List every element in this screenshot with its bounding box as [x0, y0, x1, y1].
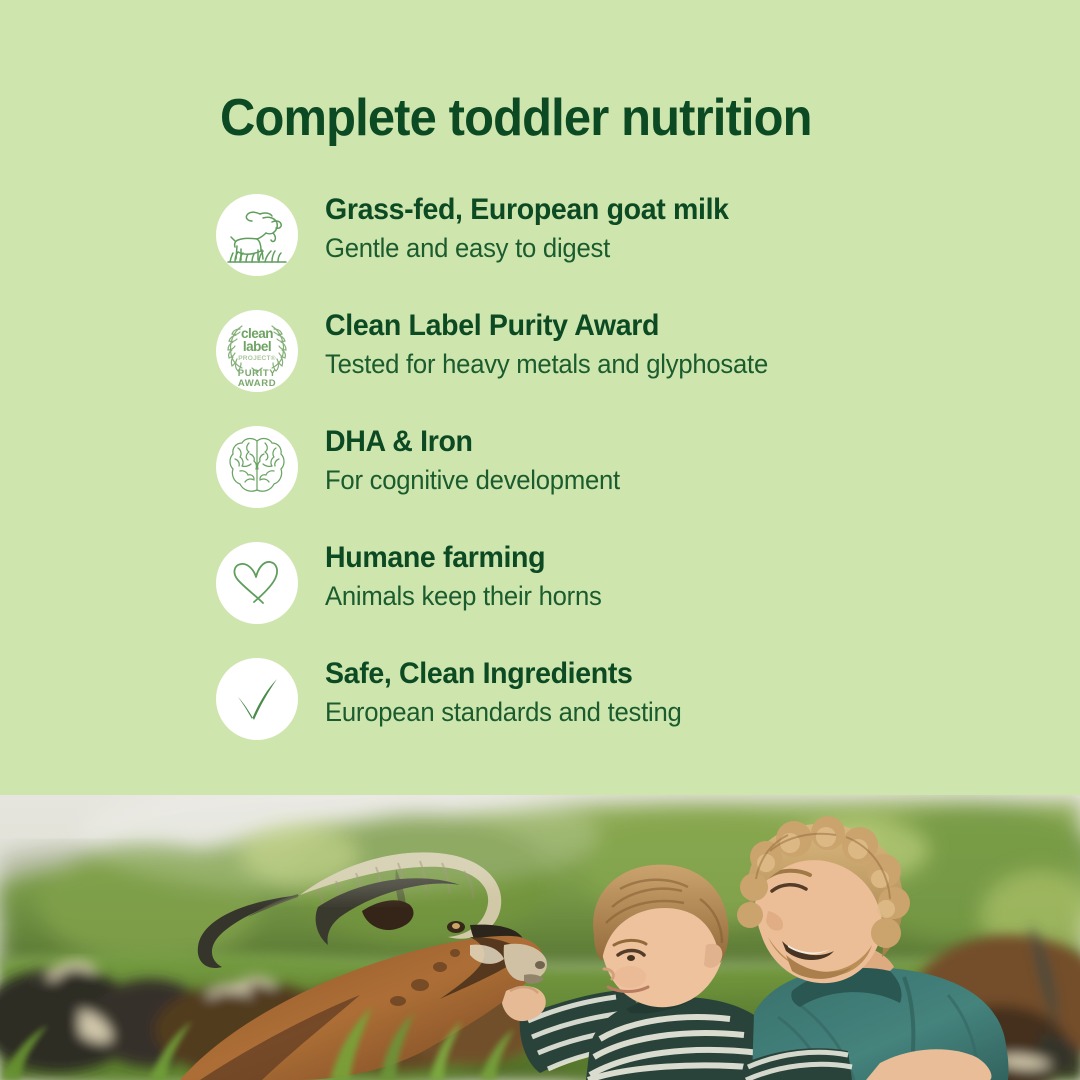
svg-text:PROJECT®: PROJECT® [238, 354, 276, 362]
feature-subtitle: Gentle and easy to digest [325, 230, 990, 267]
features-panel: Complete toddler nutrition [0, 0, 1080, 795]
feature-title: Grass-fed, European goat milk [325, 190, 990, 230]
feature-list: Grass-fed, European goat milk Gentle and… [0, 192, 1080, 772]
feature-subtitle: For cognitive development [325, 462, 990, 499]
feature-subtitle: Tested for heavy metals and glyphosate [325, 346, 990, 383]
feature-title: Clean Label Purity Award [325, 306, 990, 346]
feature-text: Grass-fed, European goat milk Gentle and… [325, 190, 1025, 267]
svg-text:AWARD: AWARD [238, 378, 276, 389]
svg-text:label: label [243, 339, 271, 354]
list-item: clean label PROJECT® PURITY AWARD Clean … [0, 308, 1080, 424]
list-item: DHA & Iron For cognitive development [0, 424, 1080, 540]
list-item: Humane farming Animals keep their horns [0, 540, 1080, 656]
list-item: Safe, Clean Ingredients European standar… [0, 656, 1080, 772]
feature-subtitle: Animals keep their horns [325, 578, 990, 615]
goat-icon [216, 194, 298, 276]
brain-icon [216, 426, 298, 508]
checkmark-icon [216, 658, 298, 740]
feature-title: DHA & Iron [325, 422, 990, 462]
lifestyle-photo [0, 795, 1080, 1080]
heart-icon [216, 542, 298, 624]
list-item: Grass-fed, European goat milk Gentle and… [0, 192, 1080, 308]
feature-title: Humane farming [325, 538, 990, 578]
feature-title: Safe, Clean Ingredients [325, 654, 990, 694]
feature-subtitle: European standards and testing [325, 694, 990, 731]
feature-text: Clean Label Purity Award Tested for heav… [325, 306, 1025, 383]
feature-text: Humane farming Animals keep their horns [325, 538, 1025, 615]
page-title: Complete toddler nutrition [220, 88, 812, 148]
ad-creative-canvas: Complete toddler nutrition [0, 0, 1080, 1080]
feature-text: Safe, Clean Ingredients European standar… [325, 654, 1025, 731]
feature-text: DHA & Iron For cognitive development [325, 422, 1025, 499]
clean-label-purity-award-seal-icon: clean label PROJECT® PURITY AWARD [216, 310, 298, 392]
